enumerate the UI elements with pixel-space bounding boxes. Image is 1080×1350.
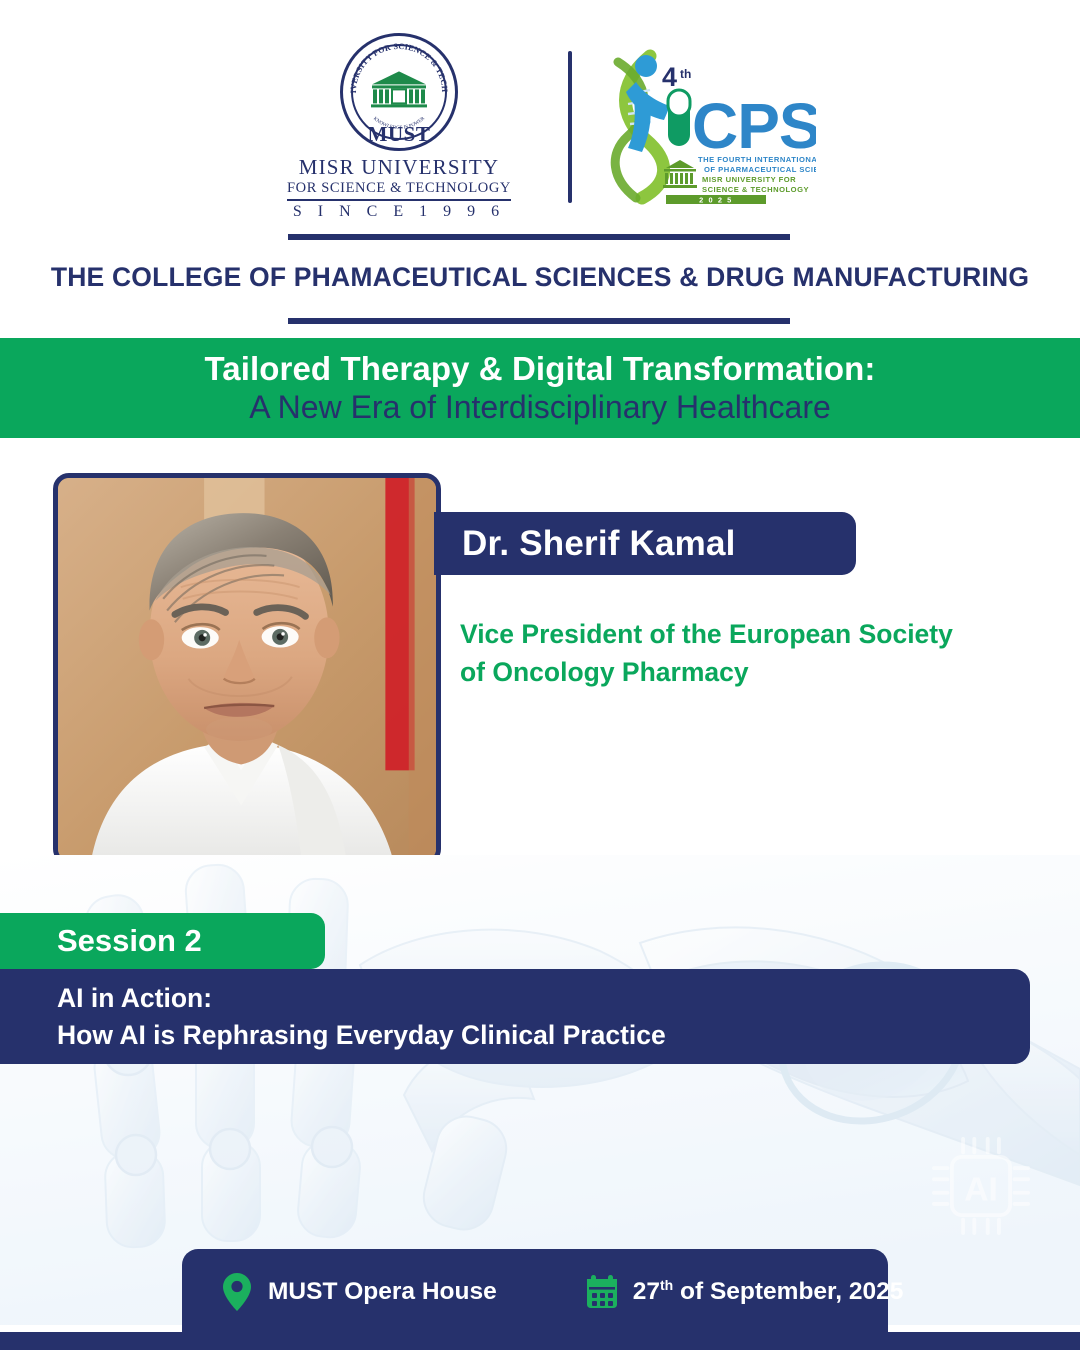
icps-conference-logo-icon: 4 th CPS THE FOURTH INTERNATIONA	[606, 48, 816, 206]
session-title-line1: AI in Action:	[0, 980, 1030, 1017]
footer-date-day: 27	[633, 1279, 660, 1306]
svg-text:CPS: CPS	[692, 90, 816, 162]
ai-chip-icon: AI	[925, 1130, 1037, 1242]
footer-date-suffix: th	[660, 1277, 673, 1293]
footer-date-rest: of September, 2025	[673, 1279, 903, 1306]
theme-banner: Tailored Therapy & Digital Transformatio…	[0, 338, 1080, 438]
footer-venue: MUST Opera House	[182, 1249, 497, 1335]
location-pin-icon	[220, 1272, 254, 1312]
footer-date-text: 27th of September, 2025	[633, 1277, 904, 1306]
speaker-name-badge: Dr. Sherif Kamal	[434, 512, 856, 575]
title-rule-bottom	[288, 318, 790, 324]
speaker-role-line1: Vice President of the European Society	[460, 616, 1060, 654]
svg-text:SCIENCE & TECHNOLOGY: SCIENCE & TECHNOLOGY	[702, 185, 809, 194]
must-acronym: MUST	[340, 122, 458, 147]
university-since: S I N C E 1 9 9 6	[287, 203, 511, 221]
session-title-bar: AI in Action: How AI is Rephrasing Every…	[0, 969, 1030, 1064]
svg-text:MISR UNIVERSITY FOR: MISR UNIVERSITY FOR	[702, 175, 796, 184]
session-title-line2: How AI is Rephrasing Everyday Clinical P…	[0, 1017, 1030, 1054]
ai-chip-label: AI	[964, 1172, 998, 1209]
speaker-role-line2: of Oncology Pharmacy	[460, 654, 1060, 692]
speaker-photo	[53, 473, 441, 865]
university-logo: MISR UNIVERSITY FOR SCIENCE & TECHNOLOGY…	[264, 33, 534, 221]
svg-text:2 0 2 5: 2 0 2 5	[699, 195, 733, 204]
calendar-icon	[585, 1272, 619, 1312]
svg-text:OF PHARMACEUTICAL SCIENCES: OF PHARMACEUTICAL SCIENCES	[704, 165, 816, 174]
session-badge-label: Session 2	[0, 923, 202, 959]
theme-line-2: A New Era of Interdisciplinary Healthcar…	[0, 390, 1080, 426]
building-icon	[368, 70, 430, 110]
svg-text:THE FOURTH INTERNATIONAL CONFE: THE FOURTH INTERNATIONAL CONFERENCE	[698, 155, 816, 164]
svg-text:th: th	[680, 67, 691, 81]
poster-root: MISR UNIVERSITY FOR SCIENCE & TECHNOLOGY…	[0, 0, 1080, 1350]
logo-underline	[287, 199, 511, 201]
university-name-line2: FOR SCIENCE & TECHNOLOGY	[287, 180, 511, 197]
theme-line-1: Tailored Therapy & Digital Transformatio…	[0, 351, 1080, 387]
footer-info-card: MUST Opera House	[182, 1249, 888, 1335]
svg-text:4: 4	[662, 62, 677, 92]
logo-row: MISR UNIVERSITY FOR SCIENCE & TECHNOLOGY…	[0, 44, 1080, 209]
speaker-role: Vice President of the European Society o…	[460, 616, 1060, 691]
speaker-name: Dr. Sherif Kamal	[434, 524, 736, 564]
page-title: THE COLLEGE OF PHAMACEUTICAL SCIENCES & …	[0, 262, 1080, 293]
header-vertical-divider	[568, 51, 572, 203]
footer-venue-text: MUST Opera House	[268, 1278, 497, 1306]
session-badge: Session 2	[0, 913, 325, 969]
footer-date: 27th of September, 2025	[543, 1249, 904, 1335]
university-name-line1: MISR UNIVERSITY	[287, 155, 511, 180]
bottom-strip	[0, 1332, 1080, 1350]
must-seal-icon: MISR UNIVERSITY FOR SCIENCE & TECHNOLOGY…	[340, 33, 458, 151]
title-rule-top	[288, 234, 790, 240]
